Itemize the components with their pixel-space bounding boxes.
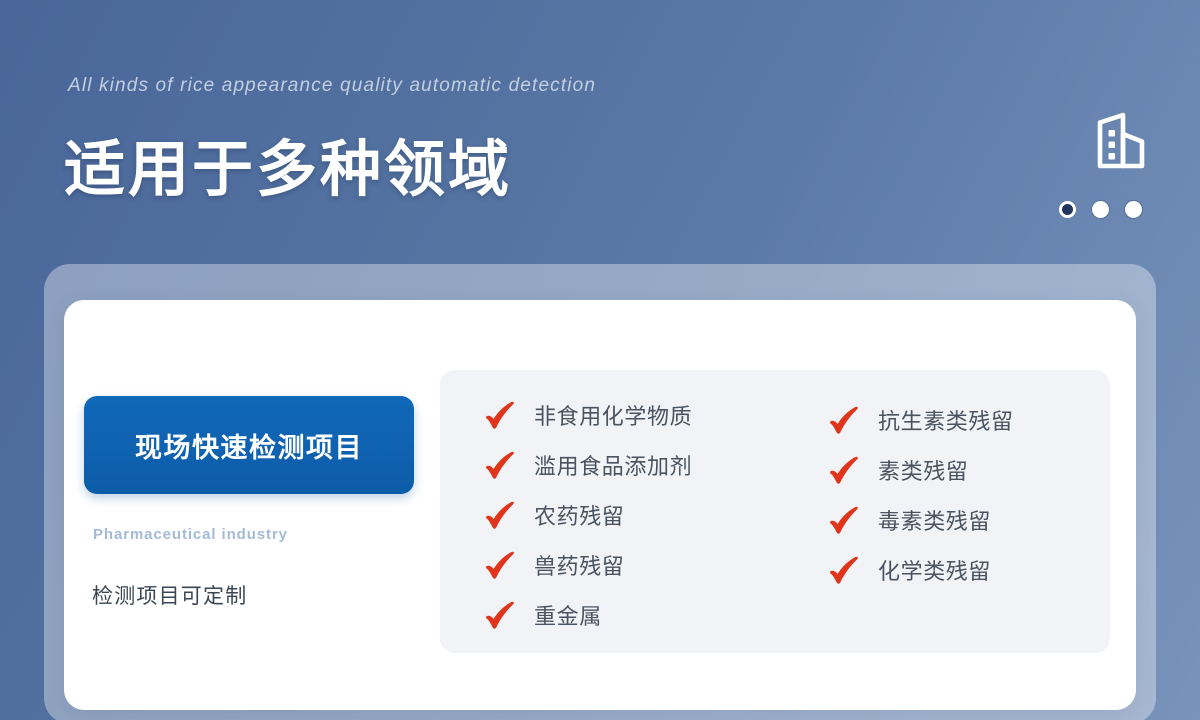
check-icon — [484, 450, 516, 480]
industry-caption: Pharmaceutical industry — [93, 526, 288, 543]
customizable-note: 检测项目可定制 — [92, 580, 247, 610]
checklist-item-label: 素类残留 — [878, 454, 968, 486]
header-subtitle: All kinds of rice appearance quality aut… — [68, 75, 596, 97]
checklist-item-label: 重金属 — [534, 599, 602, 631]
check-icon — [484, 600, 516, 630]
checklist-item-label: 抗生素类残留 — [878, 404, 1014, 436]
page-title: 适用于多种领域 — [64, 119, 512, 208]
checklist-item: 抗生素类残留 — [828, 399, 1014, 440]
checklist-item-label: 非食用化学物质 — [534, 399, 692, 431]
checklist-item: 滥用食品添加剂 — [484, 444, 692, 485]
checklist-item-label: 兽药残留 — [534, 549, 624, 581]
rapid-detection-button[interactable]: 现场快速检测项目 — [84, 396, 414, 494]
check-icon — [828, 555, 860, 585]
checklist-item: 毒素类残留 — [828, 499, 1014, 540]
checklist-item: 农药残留 — [484, 494, 692, 535]
carousel-dot-2[interactable] — [1092, 201, 1109, 218]
carousel-dot-1[interactable] — [1059, 201, 1076, 218]
checklist-item: 重金属 — [484, 594, 692, 635]
checklist-item: 兽药残留 — [484, 544, 692, 585]
checklist-item: 非食用化学物质 — [484, 394, 692, 435]
check-icon — [484, 500, 516, 530]
check-icon — [828, 455, 860, 485]
checklist-item-label: 毒素类残留 — [878, 504, 991, 536]
checklist-item: 化学类残留 — [828, 549, 1014, 590]
check-icon — [828, 505, 860, 535]
checklist-item-label: 农药残留 — [534, 499, 624, 531]
checklist-item-label: 滥用食品添加剂 — [534, 449, 692, 481]
check-icon — [828, 405, 860, 435]
check-icon — [484, 550, 516, 580]
checklist-item: 素类残留 — [828, 449, 1014, 490]
carousel-dots[interactable] — [1059, 201, 1142, 218]
checklist-column-right: 抗生素类残留素类残留毒素类残留化学类残留 — [828, 399, 1014, 590]
slide-canvas: All kinds of rice appearance quality aut… — [0, 0, 1200, 720]
building-icon — [1089, 108, 1155, 174]
checklist-item-label: 化学类残留 — [878, 554, 991, 586]
carousel-dot-3[interactable] — [1125, 201, 1142, 218]
check-icon — [484, 400, 516, 430]
checklist-column-left: 非食用化学物质滥用食品添加剂农药残留兽药残留重金属 — [484, 394, 692, 635]
